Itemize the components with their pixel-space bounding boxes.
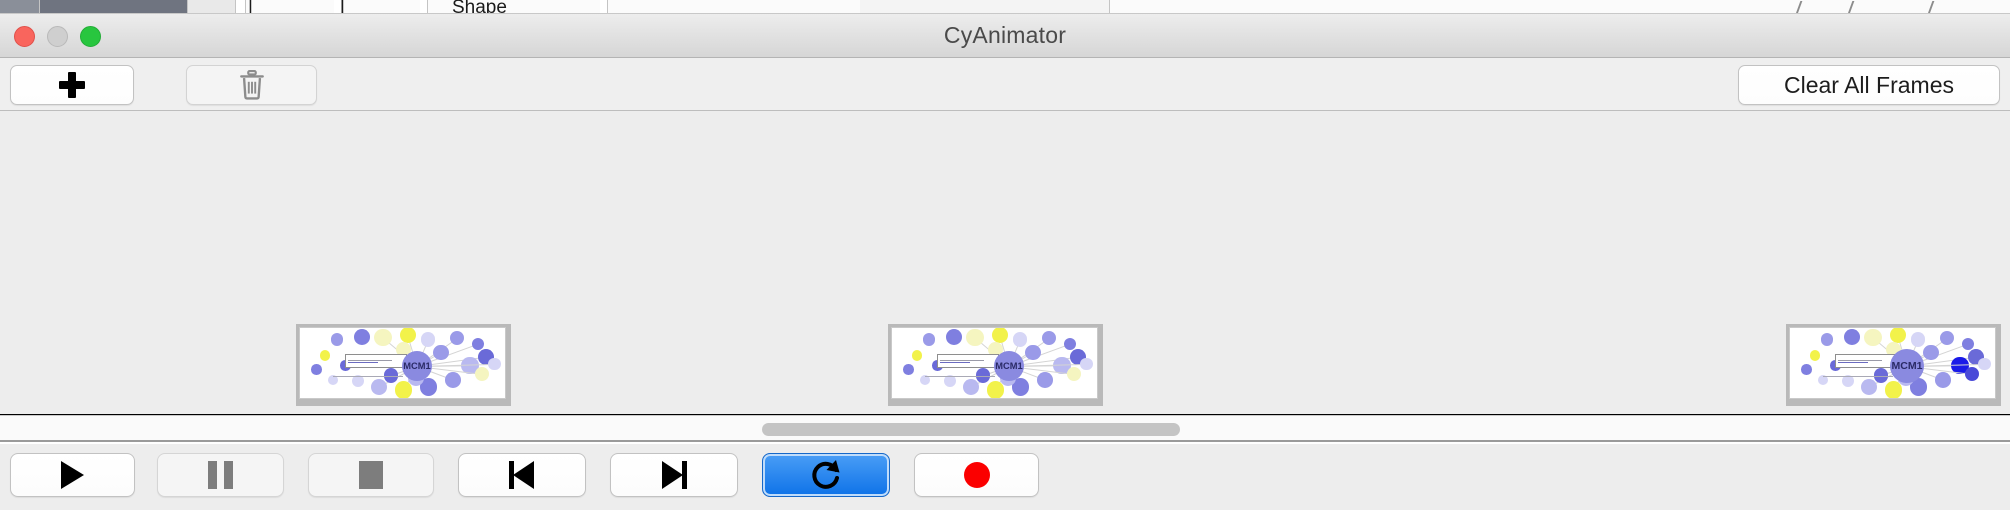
graph-node (1801, 364, 1812, 375)
graph-node (1940, 331, 1954, 345)
window-title: CyAnimator (944, 22, 1066, 49)
frame-thumbnail[interactable]: MCM1 (1786, 324, 2001, 406)
pause-button[interactable] (157, 453, 284, 497)
graph-node (371, 379, 387, 395)
graph-node (1064, 338, 1076, 350)
record-button[interactable] (914, 453, 1039, 497)
graph-node (352, 375, 364, 387)
graph-node (331, 333, 343, 345)
minimize-button[interactable] (47, 26, 68, 47)
pause-icon (208, 461, 233, 489)
skip-forward-icon (661, 461, 687, 489)
graph-node (1821, 333, 1833, 345)
frame-network-preview: MCM1 (1789, 327, 1996, 399)
graph-node (1935, 372, 1951, 388)
graph-tooltip (937, 354, 999, 368)
window-controls (14, 26, 101, 47)
stop-icon (359, 461, 383, 489)
play-button[interactable] (10, 453, 135, 497)
graph-node (472, 338, 484, 350)
frame-thumbnail[interactable]: MCM1 (296, 324, 511, 406)
graph-node (1962, 338, 1974, 350)
graph-node (1978, 358, 1990, 370)
graph-node (374, 329, 392, 347)
cyanimator-window: | | Shape CyAnimator (0, 0, 2010, 510)
graph-node (992, 327, 1008, 343)
plus-icon (59, 72, 85, 98)
graph-hub-node: MCM1 (402, 351, 432, 381)
graph-node (1042, 331, 1056, 345)
zoom-button[interactable] (80, 26, 101, 47)
graph-hub-node: MCM1 (1890, 349, 1924, 383)
timeline-panel[interactable]: MCM1MCM1MCM1 2131415161718 Seconds (0, 111, 2010, 416)
frame-thumbnail[interactable]: MCM1 (888, 324, 1103, 406)
background-window-strip: | | Shape (0, 0, 2010, 14)
background-window-label: Shape (452, 0, 507, 14)
graph-node (1013, 332, 1027, 346)
skip-back-icon (509, 461, 535, 489)
graph-node (1842, 375, 1854, 387)
loop-icon (809, 458, 843, 492)
graph-node (1037, 372, 1053, 388)
skip-start-button[interactable] (458, 453, 586, 497)
scrollbar-thumb[interactable] (762, 423, 1180, 436)
graph-caption (1823, 376, 1893, 377)
graph-node (1965, 367, 1979, 381)
graph-node (1864, 329, 1882, 347)
graph-node (433, 345, 449, 361)
graph-node (475, 367, 489, 381)
frame-network-preview: MCM1 (891, 327, 1098, 399)
stop-button[interactable] (308, 453, 434, 497)
add-frame-button[interactable] (10, 65, 134, 105)
loop-button[interactable] (762, 453, 890, 497)
graph-node (354, 329, 370, 345)
player-bar: Animation Speed: (0, 444, 2010, 510)
graph-node (1911, 332, 1925, 346)
graph-node (1844, 329, 1860, 345)
graph-tooltip (1835, 354, 1897, 368)
title-bar[interactable]: CyAnimator (0, 14, 2010, 58)
close-button[interactable] (14, 26, 35, 47)
graph-node (923, 333, 935, 345)
graph-node (1810, 350, 1821, 361)
clear-all-frames-button[interactable]: Clear All Frames (1738, 65, 2000, 105)
graph-node (421, 332, 435, 346)
graph-tooltip (345, 354, 407, 368)
graph-node (903, 364, 914, 375)
toolbar: Clear All Frames (0, 58, 2010, 111)
graph-caption (925, 376, 995, 377)
graph-node (1923, 345, 1939, 361)
graph-node (1890, 327, 1906, 343)
graph-node (1025, 345, 1041, 361)
graph-node (912, 350, 923, 361)
frame-network-preview: MCM1 (299, 327, 506, 399)
clear-all-frames-label: Clear All Frames (1784, 72, 1954, 99)
graph-node (963, 379, 979, 395)
delete-frame-button[interactable] (186, 65, 317, 105)
trash-icon (239, 70, 265, 100)
graph-node (944, 375, 956, 387)
skip-end-button[interactable] (610, 453, 738, 497)
graph-node (445, 372, 461, 388)
graph-node (488, 358, 500, 370)
graph-node (320, 350, 331, 361)
play-icon (61, 461, 84, 489)
graph-node (1861, 379, 1877, 395)
graph-node (946, 329, 962, 345)
graph-node (1067, 367, 1081, 381)
graph-node (450, 331, 464, 345)
graph-node (400, 327, 416, 343)
graph-node (311, 364, 322, 375)
record-icon (964, 462, 990, 488)
graph-caption (333, 376, 403, 377)
graph-hub-node: MCM1 (994, 351, 1024, 381)
graph-node (966, 329, 984, 347)
graph-node (1080, 358, 1092, 370)
timeline-scrollbar[interactable] (0, 416, 2010, 442)
